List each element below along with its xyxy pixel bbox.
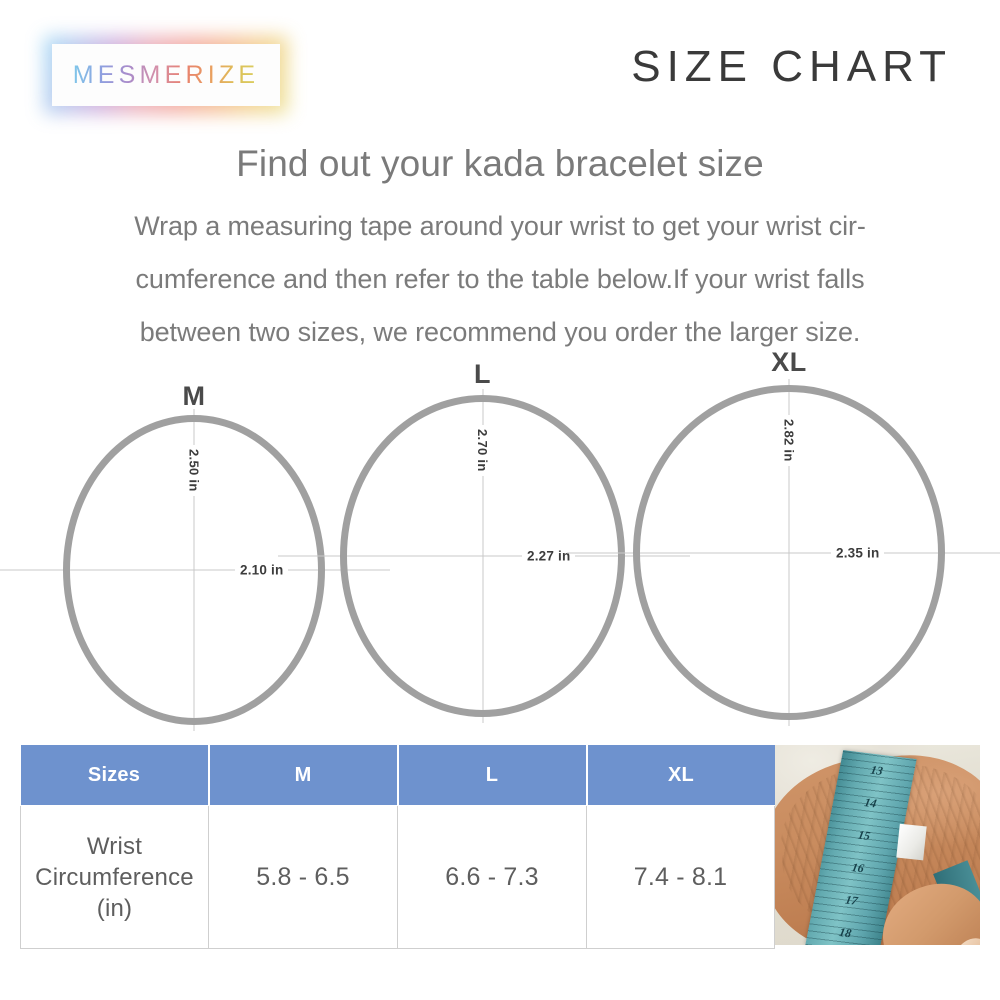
table-header-xl: XL — [587, 745, 775, 806]
table-cell-l: 6.6 - 7.3 — [398, 806, 587, 949]
tape-number: 17 — [844, 893, 859, 909]
oval-diagram-l: L 2.70 in 2.27 in — [340, 395, 625, 717]
wrist-measurement-photo: 13 14 15 16 17 18 — [775, 745, 980, 945]
table-cell-xl: 7.4 - 8.1 — [587, 806, 775, 949]
oval-diagram-m: M 2.50 in 2.10 in — [63, 415, 325, 725]
intro-paragraph: Wrap a measuring tape around your wrist … — [50, 200, 950, 359]
row-label-line-3: (in) — [22, 893, 207, 924]
page-title: SIZE CHART — [631, 42, 952, 92]
tape-number: 13 — [869, 763, 884, 779]
table-row: Wrist Circumference (in) 5.8 - 6.5 6.6 -… — [21, 806, 775, 949]
intro-line-1: Wrap a measuring tape around your wrist … — [50, 200, 950, 253]
table-header-sizes: Sizes — [21, 745, 209, 806]
oval-height-label-xl: 2.82 in — [781, 415, 798, 466]
oval-label-xl: XL — [771, 349, 807, 376]
oval-width-label-l: 2.27 in — [522, 548, 575, 565]
row-label-line-2: Circumference — [22, 862, 207, 893]
photo-tape-clip — [896, 824, 926, 861]
tape-number: 16 — [851, 860, 866, 876]
oval-height-label-l: 2.70 in — [474, 425, 491, 476]
logo-box: MESMERIZE — [52, 44, 280, 106]
size-table: Sizes M L XL Wrist Circumference (in) 5.… — [20, 745, 775, 949]
tape-number: 14 — [863, 795, 878, 811]
oval-label-m: M — [183, 383, 206, 410]
logo-text: MESMERIZE — [73, 61, 259, 90]
tape-number: 15 — [857, 828, 872, 844]
oval-diagram-xl: XL 2.82 in 2.35 in — [633, 385, 945, 720]
table-cell-m: 5.8 - 6.5 — [209, 806, 398, 949]
oval-width-label-xl: 2.35 in — [831, 544, 884, 561]
row-label-line-1: Wrist — [22, 831, 207, 862]
table-header-row: Sizes M L XL — [21, 745, 775, 806]
table-row-label: Wrist Circumference (in) — [21, 806, 209, 949]
intro-line-2: cumference and then refer to the table b… — [50, 253, 950, 306]
photo-thumbnail — [951, 933, 980, 945]
brand-logo: MESMERIZE — [52, 44, 280, 106]
oval-diagrams: M 2.50 in 2.10 in L 2.70 in 2.27 in XL 2… — [0, 340, 1000, 740]
tape-number: 18 — [838, 925, 853, 941]
table-header-l: L — [398, 745, 587, 806]
headline: Find out your kada bracelet size — [0, 143, 1000, 185]
oval-label-l: L — [474, 361, 491, 388]
table-header-m: M — [209, 745, 398, 806]
oval-height-label-m: 2.50 in — [186, 445, 203, 496]
oval-width-label-m: 2.10 in — [235, 562, 288, 579]
